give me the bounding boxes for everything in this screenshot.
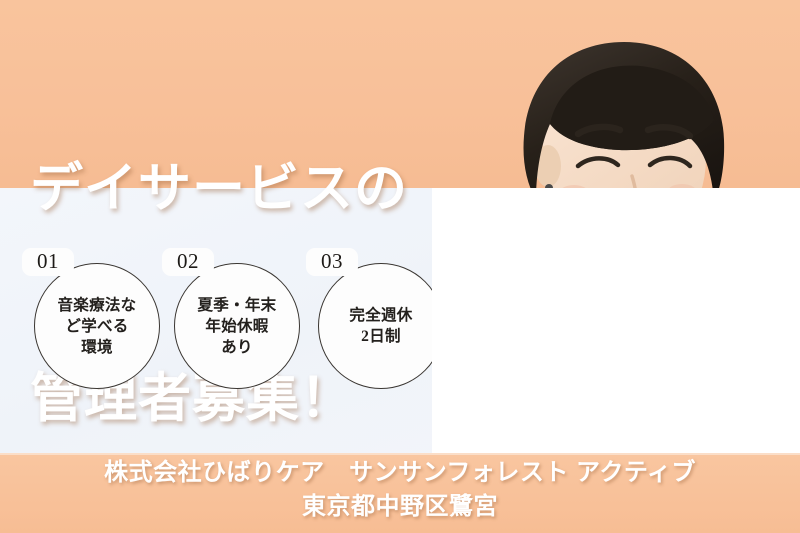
- feature-badge-03: 03: [306, 248, 358, 276]
- company-banner: 株式会社ひばりケア サンサンフォレスト アクティブ 東京都中野区鷺宮: [0, 455, 800, 523]
- feature-text-03: 完全週休 2日制: [349, 305, 412, 347]
- feature-badge-01: 01: [22, 248, 74, 276]
- company-name: 株式会社ひばりケア サンサンフォレスト アクティブ: [0, 455, 800, 490]
- feature-item-01: 音楽療法な ど学べる 環境 01: [22, 248, 172, 398]
- feature-text-02: 夏季・年末 年始休暇 あり: [197, 295, 276, 358]
- feature-circle-02: 夏季・年末 年始休暇 あり: [174, 263, 300, 389]
- feature-number-01: 01: [37, 249, 59, 273]
- photo-white-backdrop: [432, 188, 800, 460]
- feature-number-02: 02: [177, 249, 199, 273]
- feature-badge-02: 02: [162, 248, 214, 276]
- feature-text-01: 音楽療法な ど学べる 環境: [57, 295, 136, 358]
- feature-circle-01: 音楽療法な ど学べる 環境: [34, 263, 160, 389]
- company-address: 東京都中野区鷺宮: [0, 490, 800, 523]
- feature-circle-group: 音楽療法な ど学べる 環境 01 夏季・年末 年始休暇 あり 02 完全週休 2…: [0, 248, 470, 398]
- caregiver-photo: [432, 0, 800, 460]
- headline-line-1: デイサービスの: [30, 154, 408, 224]
- feature-number-03: 03: [321, 249, 343, 273]
- banner-canvas: デイサービスの 管理者募集！ 音楽療法な ど学べる 環境 01 夏季・年末 年始…: [0, 0, 800, 533]
- feature-item-02: 夏季・年末 年始休暇 あり 02: [162, 248, 312, 398]
- feature-circle-03: 完全週休 2日制: [318, 263, 444, 389]
